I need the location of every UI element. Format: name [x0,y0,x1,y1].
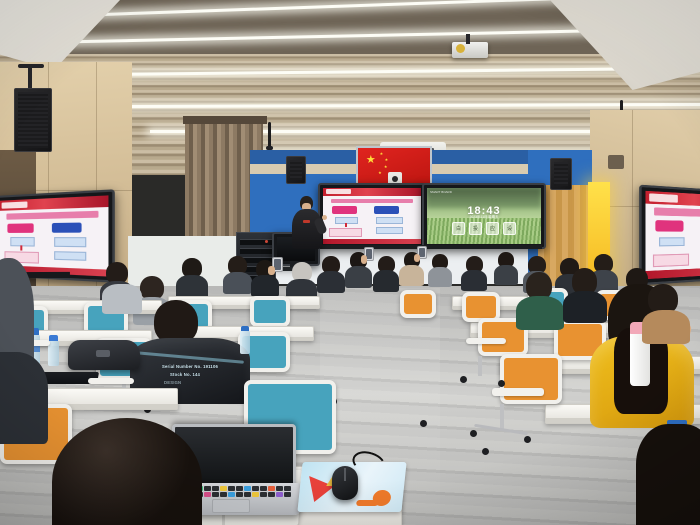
screen-brand-label: SMART BOARD [430,190,452,194]
chair-castor [420,420,427,427]
hanging-microphone-left [268,122,271,148]
jacket-text-line-3: DESIGN [164,380,181,385]
slide-title-band [331,199,413,203]
projector-lens-icon [456,44,465,53]
chair-armrest [466,338,506,344]
dock-item-apps[interactable]: 应 [486,222,499,235]
speaker-bracket-left [18,64,44,68]
flag-star-small-3: ★ [384,165,388,169]
chair-castor [460,376,467,383]
slide-pill-left [332,206,357,213]
mouse-button-divider [344,468,346,481]
chair-armrest [492,388,544,396]
slide-surface [323,188,421,244]
rack-status-led-icon [265,240,268,243]
slide-footer-bar [323,239,421,244]
flag-star-small-1: ★ [380,152,384,156]
clock-screen[interactable]: SMART BOARD 18:43 2023年11月 星期五 白 投 应 设 [422,183,546,249]
slide-connector [345,223,347,227]
right-repeater-monitor[interactable] [639,185,700,286]
slide-pill-right [374,206,399,213]
chair[interactable] [400,290,436,318]
chair-castor [498,380,505,387]
wall-speaker-center [286,156,306,184]
curtain-rail [183,116,267,124]
jacket-text-line-1: Serial Number No. 191106 [162,364,218,369]
presentation-screen[interactable] [318,183,426,249]
dock-item-settings[interactable]: 设 [503,222,516,235]
chair[interactable] [250,296,290,327]
screen-bottom-rail [318,245,542,249]
screen-dock[interactable]: 白 投 应 设 [452,222,516,235]
projector-mount [466,34,470,44]
wall-speaker-right [550,158,572,190]
chair-castor [524,436,531,443]
chair[interactable] [500,354,562,404]
clock-date: 2023年11月 星期五 [427,214,541,219]
laptop-trackpad[interactable] [212,499,250,513]
speaker-mount-left [28,68,32,88]
slide-box-r1 [376,217,403,224]
water-bottle [240,330,250,354]
backpack-buckle-icon [96,350,110,357]
chair-castor [482,448,489,455]
bottle-cap [49,335,58,341]
chair-castor [470,430,477,437]
flag-star-small-4: ★ [378,171,382,175]
chair-stem [478,356,482,376]
slide-logo [326,189,351,194]
flag-star-large: ★ [366,155,376,166]
dock-item-cast[interactable]: 投 [469,222,482,235]
slide-box-r2 [376,227,403,234]
camera-lens-icon [392,176,398,182]
flag-star-small-2: ★ [385,158,389,162]
jacket-text-line-2: Stock No. 144 [170,372,200,377]
wall-mounted-box-right [608,155,624,169]
wall-speaker-left [14,88,52,152]
slide-box-l2 [329,228,362,237]
chair-armrest [88,378,134,384]
bottle-cap [241,326,249,331]
classroom-photo: ★ ★ ★ ★ ★ [0,0,700,525]
dock-item-whiteboard[interactable]: 白 [452,222,465,235]
chair-stem [500,404,504,430]
